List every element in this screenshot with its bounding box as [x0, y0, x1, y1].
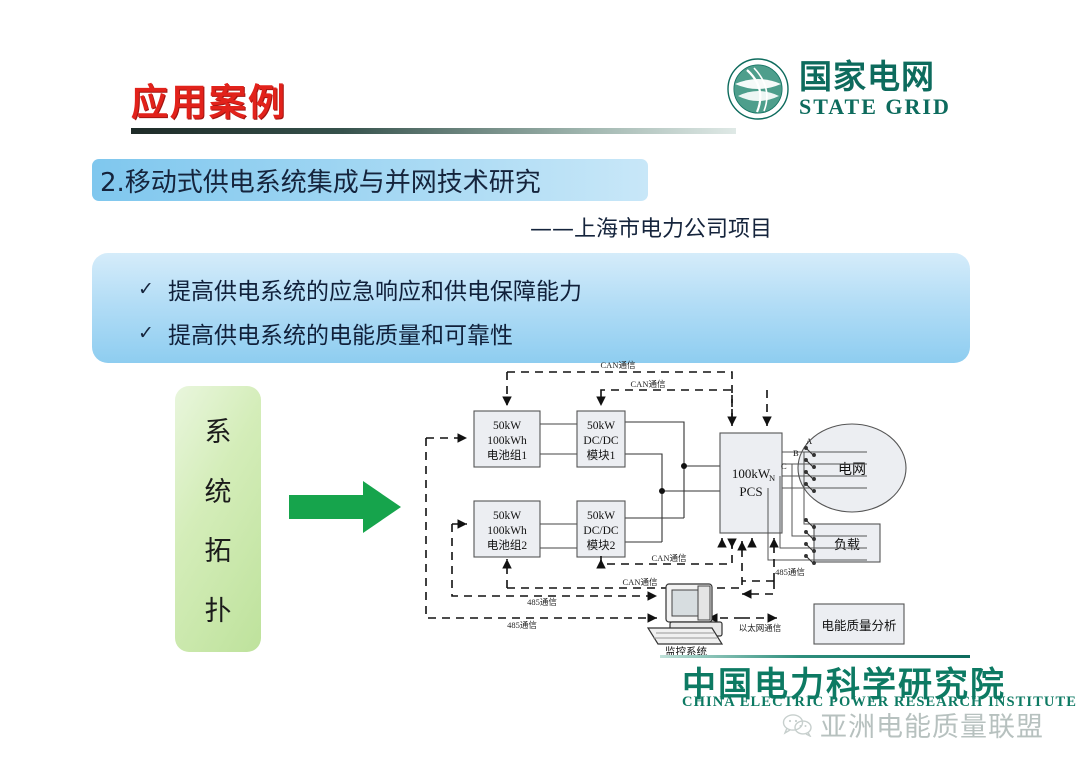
- svg-text:DC/DC: DC/DC: [583, 435, 618, 447]
- bullet-text: 提高供电系统的电能质量和可靠性: [168, 316, 513, 350]
- sys-char-1: 系: [205, 410, 232, 449]
- bullet-panel: ✓ 提高供电系统的应急响应和供电保障能力 ✓ 提高供电系统的电能质量和可靠性: [92, 253, 970, 363]
- system-topology-label-panel: 系 统 拓 扑: [175, 386, 261, 652]
- list-item: ✓ 提高供电系统的电能质量和可靠性: [138, 316, 513, 350]
- comm-label-can-top: CAN通信: [601, 360, 636, 370]
- watermark-text: 亚洲电能质量联盟: [820, 705, 1044, 744]
- sys-char-4: 扑: [205, 589, 232, 628]
- svg-text:100kW: 100kW: [732, 466, 771, 481]
- svg-text:DC/DC: DC/DC: [583, 525, 618, 537]
- title-divider: [131, 128, 736, 134]
- bullet-text: 提高供电系统的应急响应和供电保障能力: [168, 272, 582, 306]
- svg-text:PCS: PCS: [739, 484, 762, 499]
- svg-text:模块2: 模块2: [587, 539, 616, 552]
- comm-label-ethernet: 以太网通信: [739, 623, 782, 633]
- page-title: 应用案例: [131, 72, 287, 126]
- svg-text:50kW: 50kW: [587, 420, 615, 432]
- comm-label-can-top2: CAN通信: [631, 379, 666, 389]
- comm-label-485-a: 485通信: [527, 597, 557, 607]
- project-source-line: ——上海市电力公司项目: [530, 211, 772, 243]
- svg-text:100kWh: 100kWh: [487, 525, 527, 537]
- sys-char-2: 统: [205, 470, 232, 509]
- phase-label-b: B: [793, 448, 799, 458]
- comm-label-485-b: 485通信: [507, 620, 537, 630]
- phase-label-n: N: [769, 473, 775, 483]
- comm-label-can-bottom: CAN通信: [623, 577, 658, 587]
- svg-text:电能质量分析: 电能质量分析: [821, 619, 896, 633]
- monitoring-computer-icon: [648, 584, 722, 644]
- svg-text:50kW: 50kW: [587, 510, 615, 522]
- svg-text:负载: 负载: [834, 537, 860, 552]
- svg-text:电池组2: 电池组2: [487, 538, 527, 552]
- system-topology-diagram: 50kW100kWh电池组1 50kW100kWh电池组2 50kWDC/DC模…: [412, 356, 980, 656]
- watermark: 亚洲电能质量联盟: [782, 705, 1044, 744]
- comm-label-can-mid: CAN通信: [652, 553, 687, 563]
- svg-text:电池组1: 电池组1: [487, 448, 527, 462]
- svg-text:50kW: 50kW: [493, 420, 521, 432]
- section-subtitle-text: 2.移动式供电系统集成与并网技术研究: [92, 162, 541, 199]
- state-grid-logo: 国家电网 STATE GRID: [727, 58, 951, 120]
- wechat-icon: [782, 713, 812, 737]
- logo-text-en: STATE GRID: [799, 96, 951, 118]
- sys-char-3: 拓: [205, 529, 232, 568]
- svg-text:50kW: 50kW: [493, 510, 521, 522]
- section-subtitle-bar: 2.移动式供电系统集成与并网技术研究: [92, 159, 648, 201]
- right-arrow-icon: [289, 479, 401, 535]
- svg-text:100kWh: 100kWh: [487, 435, 527, 447]
- comm-label-485-right: 485通信: [775, 567, 805, 577]
- svg-text:模块1: 模块1: [587, 449, 616, 462]
- state-grid-globe-emblem: [727, 58, 789, 120]
- list-item: ✓ 提高供电系统的应急响应和供电保障能力: [138, 272, 582, 306]
- check-icon: ✓: [138, 278, 154, 300]
- phase-label-c: C: [781, 461, 787, 471]
- check-icon: ✓: [138, 322, 154, 344]
- logo-text-cn: 国家电网: [799, 60, 951, 93]
- phase-label-a: A: [806, 436, 813, 446]
- slide-root: 应用案例 国家电网 STATE GRID 2.移动式供电系统集成与并网技术研究 …: [0, 0, 1080, 764]
